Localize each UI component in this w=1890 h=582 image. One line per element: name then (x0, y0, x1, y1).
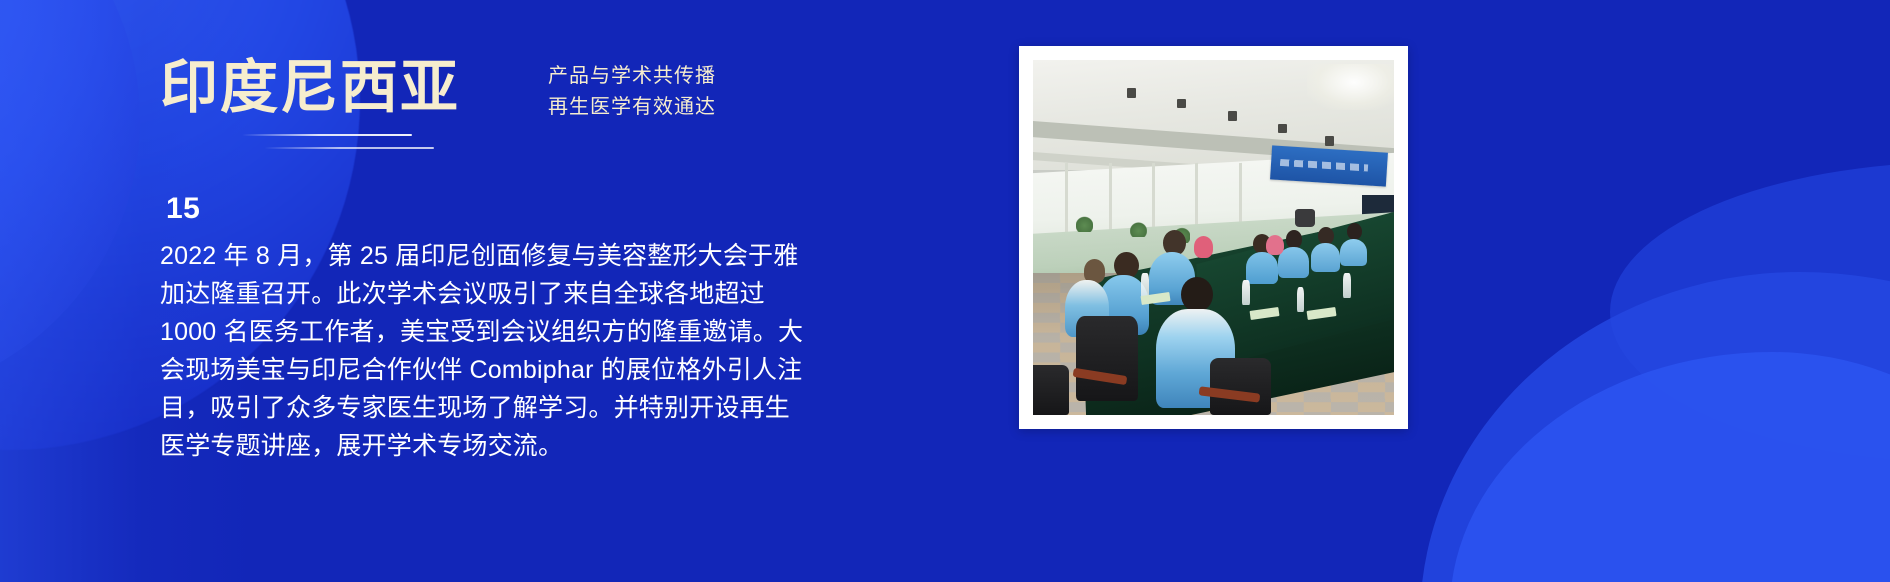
decor-wave-bottom-right-a (1420, 272, 1890, 582)
page-title: 印度尼西亚 (160, 57, 460, 120)
title-rule-2 (264, 147, 434, 149)
photo-water-bottle-4 (1343, 273, 1351, 298)
photo-spotlight-5 (1325, 136, 1334, 145)
photo-attendee-head-foreground (1181, 277, 1213, 313)
body-line-1: 2022 年 8 月，第 25 届印尼创面修复与美容整形大会于雅 (160, 237, 860, 275)
decor-wave-bottom-right-b (1450, 352, 1890, 582)
decor-wave-far (1610, 162, 1890, 462)
photo-bag-on-sill (1295, 209, 1315, 227)
photo-spotlight-2 (1177, 99, 1186, 108)
photo-attendee-hijab-2 (1266, 235, 1284, 256)
body-paragraph: 2022 年 8 月，第 25 届印尼创面修复与美容整形大会于雅 加达隆重召开。… (160, 237, 860, 465)
photo-chandelier (1307, 64, 1394, 110)
photo-spotlight-4 (1278, 124, 1287, 133)
body-line-3: 1000 名医务工作者，美宝受到会议组织方的隆重邀请。大 (160, 313, 860, 351)
photo-wall-banner (1270, 145, 1387, 186)
conference-photo-frame (1019, 46, 1408, 429)
photo-attendee-far-1 (1246, 252, 1278, 284)
photo-attendee-head-far-3 (1318, 227, 1334, 245)
photo-chair-2 (1210, 358, 1271, 415)
photo-water-bottle-3 (1297, 287, 1305, 312)
title-rule-1 (242, 134, 412, 136)
photo-attendee-hijab-1 (1194, 236, 1213, 258)
slide-canvas: 印度尼西亚 产品与学术共传播 再生医学有效通达 15 2022 年 8 月，第 … (0, 0, 1890, 582)
body-line-2: 加达隆重召开。此次学术会议吸引了来自全球各地超过 (160, 275, 860, 313)
photo-chair-3 (1033, 365, 1069, 415)
body-line-6: 医学专题讲座，展开学术专场交流。 (160, 427, 860, 465)
subtitle-line-1: 产品与学术共传播 (548, 61, 716, 92)
photo-attendee-far-3 (1311, 243, 1340, 271)
photo-water-bottle-2 (1242, 280, 1250, 305)
title-underline-rules (242, 134, 472, 149)
conference-photo (1033, 60, 1394, 415)
left-content-column: 印度尼西亚 产品与学术共传播 再生医学有效通达 15 2022 年 8 月，第 … (0, 0, 1000, 582)
title-row: 印度尼西亚 产品与学术共传播 再生医学有效通达 (160, 57, 930, 123)
subtitle-line-2: 再生医学有效通达 (548, 92, 716, 123)
photo-window-mullion-1 (1065, 163, 1068, 241)
body-line-5: 目，吸引了众多专家医生现场了解学习。并特别开设再生 (160, 389, 860, 427)
subtitle-block: 产品与学术共传播 再生医学有效通达 (548, 61, 716, 123)
item-index-number: 15 (166, 192, 200, 226)
photo-attendee-head-far-2 (1286, 230, 1303, 248)
photo-plant-2 (1130, 222, 1146, 238)
photo-chair-1 (1076, 316, 1137, 401)
photo-attendee-far-4 (1340, 239, 1367, 266)
photo-attendee-far-2 (1278, 247, 1309, 277)
photo-spotlight-1 (1127, 88, 1136, 97)
photo-spotlight-3 (1228, 111, 1237, 120)
decor-wave-dark (1430, 462, 1890, 582)
photo-plant-1 (1076, 216, 1092, 232)
body-line-4: 会现场美宝与印尼合作伙伴 Combiphar 的展位格外引人注 (160, 351, 860, 389)
